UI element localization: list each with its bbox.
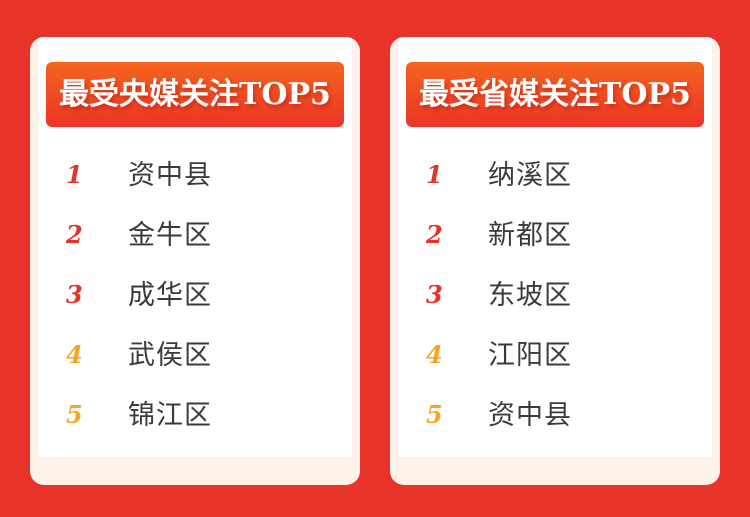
rank-number: 2 (426, 223, 488, 247)
rank-label: 东坡区 (488, 282, 572, 309)
ranking-card-central-media: 最受央媒关注TOP5 1 资中县 2 金牛区 3 成华区 4 武侯区 (30, 37, 360, 485)
rank-label: 纳溪区 (488, 162, 572, 189)
rank-number: 1 (426, 163, 488, 187)
rank-number: 1 (66, 163, 128, 187)
rank-number: 5 (66, 403, 128, 427)
rank-number: 3 (426, 283, 488, 307)
list-item: 2 新都区 (398, 205, 712, 265)
list-item: 5 资中县 (398, 385, 712, 445)
rank-number: 3 (66, 283, 128, 307)
rank-label: 资中县 (128, 162, 212, 189)
rank-label: 江阳区 (488, 342, 572, 369)
card-title: 最受省媒关注TOP5 (419, 80, 691, 110)
list-item: 2 金牛区 (38, 205, 352, 265)
rank-label: 资中县 (488, 402, 572, 429)
list-item: 3 东坡区 (398, 265, 712, 325)
list-item: 4 武侯区 (38, 325, 352, 385)
ranking-list: 1 纳溪区 2 新都区 3 东坡区 4 江阳区 5 资中县 (398, 127, 712, 457)
rank-label: 金牛区 (128, 222, 212, 249)
list-item: 1 纳溪区 (398, 145, 712, 205)
list-item: 1 资中县 (38, 145, 352, 205)
rank-number: 5 (426, 403, 488, 427)
card-header-banner: 最受央媒关注TOP5 (46, 62, 344, 127)
rank-label: 锦江区 (128, 402, 212, 429)
rank-number: 2 (66, 223, 128, 247)
rank-label: 新都区 (488, 222, 572, 249)
ranking-infographic: 最受央媒关注TOP5 1 资中县 2 金牛区 3 成华区 4 武侯区 (0, 0, 750, 517)
list-item: 5 锦江区 (38, 385, 352, 445)
ranking-list: 1 资中县 2 金牛区 3 成华区 4 武侯区 5 锦江区 (38, 127, 352, 457)
list-item: 3 成华区 (38, 265, 352, 325)
rank-number: 4 (66, 343, 128, 367)
list-item: 4 江阳区 (398, 325, 712, 385)
rank-label: 武侯区 (128, 342, 212, 369)
card-header-banner: 最受省媒关注TOP5 (406, 62, 704, 127)
ranking-cards-container: 最受央媒关注TOP5 1 资中县 2 金牛区 3 成华区 4 武侯区 (0, 0, 750, 517)
ranking-card-provincial-media: 最受省媒关注TOP5 1 纳溪区 2 新都区 3 东坡区 4 江阳区 (390, 37, 720, 485)
card-title: 最受央媒关注TOP5 (59, 80, 331, 110)
rank-number: 4 (426, 343, 488, 367)
rank-label: 成华区 (128, 282, 212, 309)
